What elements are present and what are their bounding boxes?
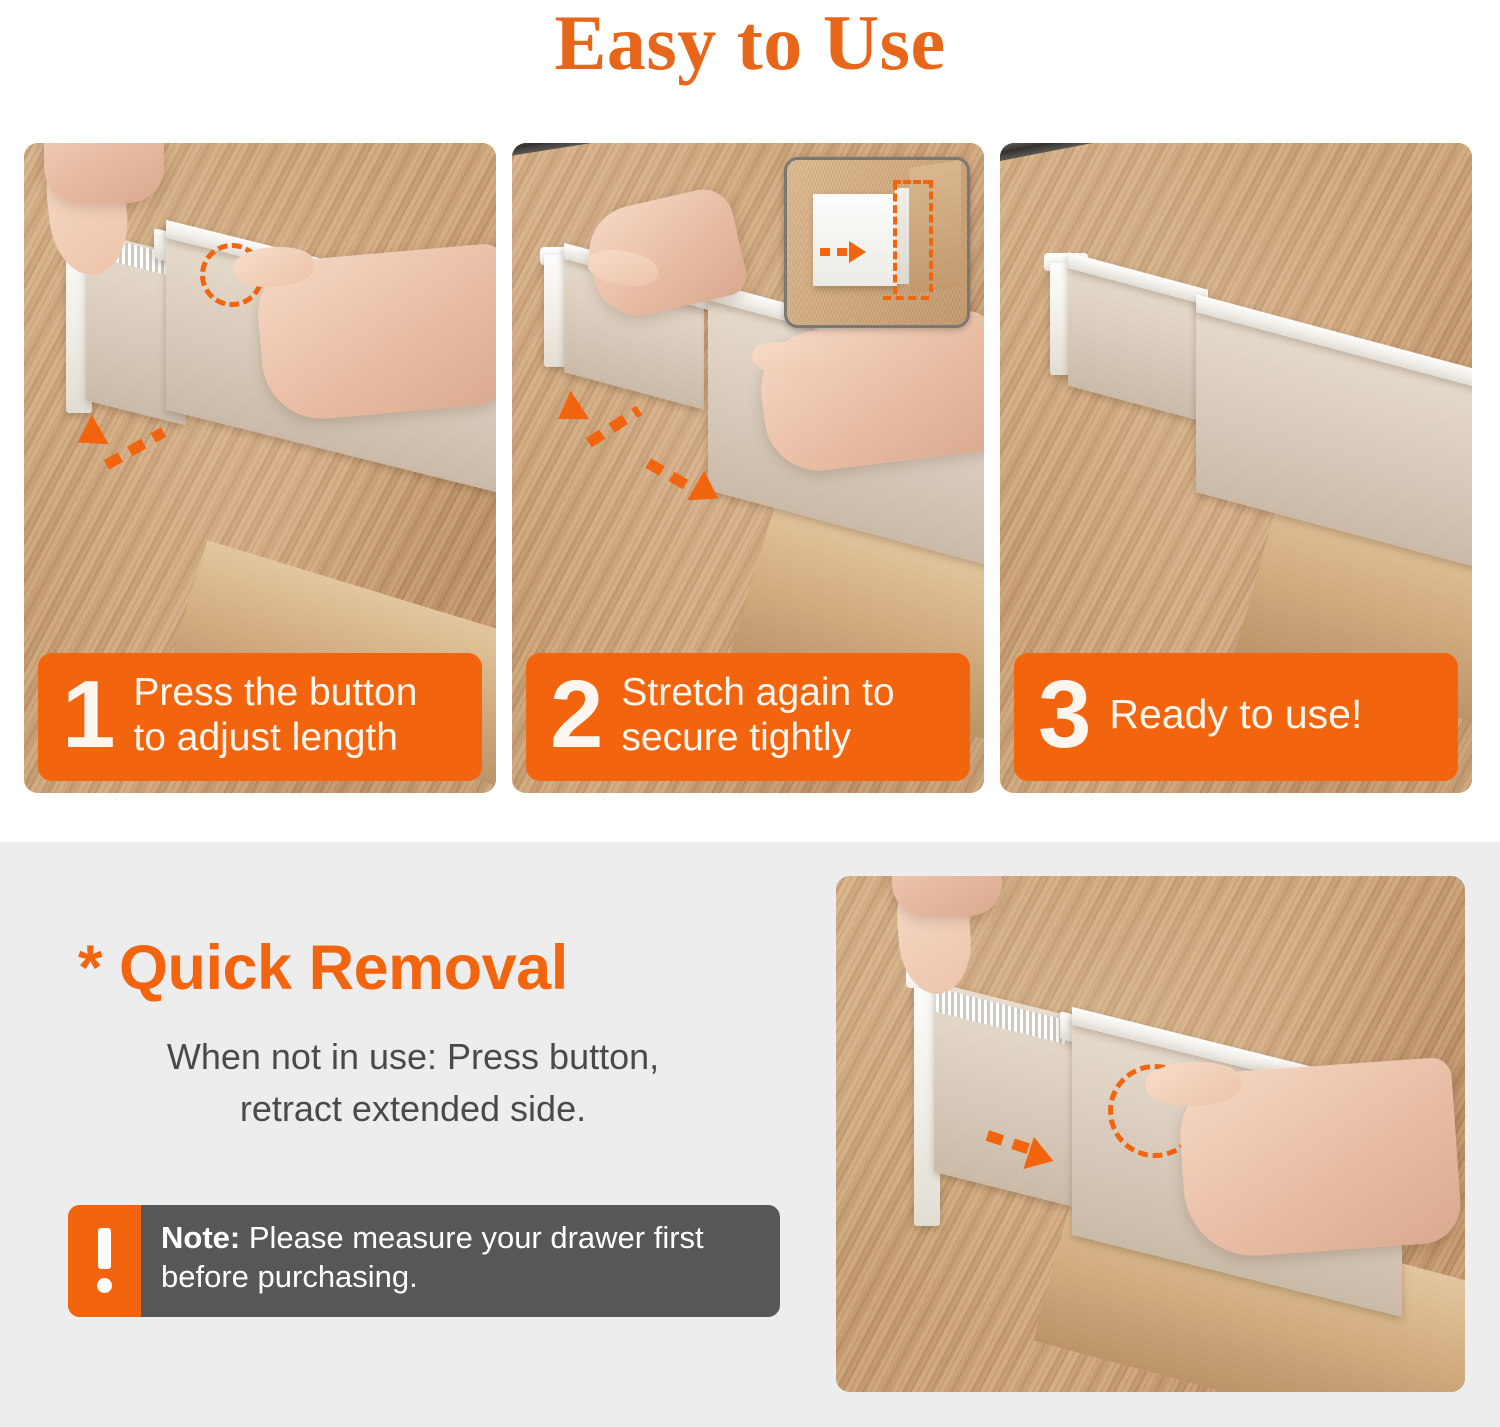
step-1-number: 1	[62, 671, 115, 759]
step-card-1: 1 Press the button to adjust length	[24, 143, 496, 793]
quick-removal-title: * Quick Removal	[78, 934, 778, 1003]
quick-removal-photo	[836, 876, 1465, 1392]
quick-removal-description: When not in use: Press button, retract e…	[78, 1031, 778, 1135]
step-card-3: 3 Ready to use!	[1000, 143, 1472, 793]
step-3-number: 3	[1038, 671, 1091, 759]
inset-dashed-line-bottom	[883, 296, 929, 300]
step-2-line-1: Stretch again to	[621, 670, 894, 715]
exclamation-badge	[68, 1205, 141, 1317]
steps-row: 1 Press the button to adjust length	[24, 143, 1476, 793]
note-body: Please measure your drawer first before …	[161, 1220, 704, 1294]
inset-divider-edge	[895, 188, 909, 284]
inset-dashed-line-right	[929, 180, 933, 292]
note-label: Note:	[161, 1220, 240, 1255]
note-text: Note: Please measure your drawer first b…	[141, 1205, 780, 1317]
detail-inset	[784, 157, 970, 328]
step-1-text: Press the button to adjust length	[133, 670, 417, 760]
steps-section: Easy to Use	[0, 0, 1500, 842]
step-card-2: 2 Stretch again to secure tightly	[512, 143, 984, 793]
exclamation-icon	[97, 1228, 112, 1294]
quick-removal-description-line-2: retract extended side.	[78, 1083, 748, 1135]
hand-upper	[892, 876, 1002, 916]
step-2-number: 2	[550, 671, 603, 759]
quick-removal-description-line-1: When not in use: Press button,	[78, 1031, 748, 1083]
inset-arrow-shaft	[820, 248, 850, 256]
inset-dashed-line-left	[893, 182, 897, 294]
step-2-caption: 2 Stretch again to secure tightly	[526, 653, 970, 781]
page-title: Easy to Use	[0, 2, 1500, 84]
step-1-line-2: to adjust length	[133, 715, 417, 760]
inset-dashed-line-top	[893, 180, 931, 184]
inset-divider-plate	[813, 194, 897, 286]
step-1-caption: 1 Press the button to adjust length	[38, 653, 482, 781]
quick-removal-text-block: * Quick Removal When not in use: Press b…	[78, 934, 778, 1136]
step-2-line-2: secure tightly	[621, 715, 894, 760]
step-3-text: Ready to use!	[1109, 691, 1362, 739]
hand-upper	[44, 143, 164, 203]
step-1-line-1: Press the button	[133, 670, 417, 715]
note-box: Note: Please measure your drawer first b…	[68, 1205, 780, 1317]
step-2-text: Stretch again to secure tightly	[621, 670, 894, 760]
inset-arrow-head	[849, 241, 866, 263]
step-3-line-1: Ready to use!	[1109, 691, 1362, 739]
step-3-caption: 3 Ready to use!	[1014, 653, 1458, 781]
